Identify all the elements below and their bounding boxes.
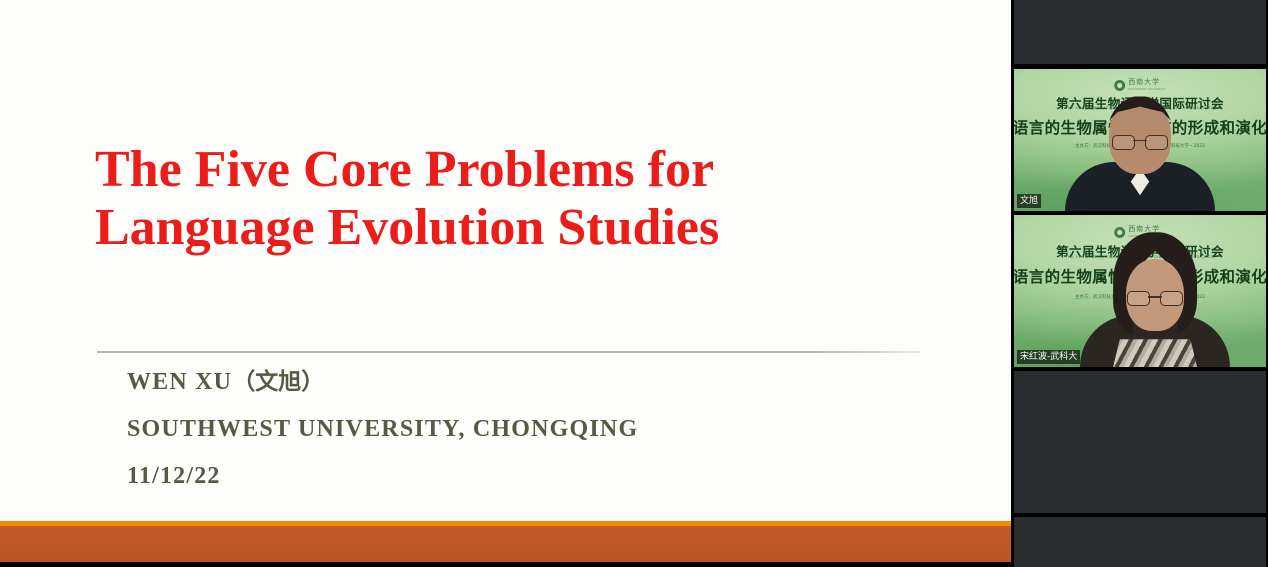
avatar-glasses-icon: [1127, 291, 1183, 305]
presenter-name-en: WEN XU: [127, 369, 232, 395]
logo-text: 西南大学: [1128, 225, 1160, 233]
video-feed: 西南大学 SOUTHWEST UNIVERSITY 第六届生物语言学国际研讨会 …: [1014, 215, 1266, 367]
presentation-slide[interactable]: The Five Core Problems for Language Evol…: [0, 0, 1011, 562]
meeting-window: The Five Core Problems for Language Evol…: [0, 0, 1268, 562]
university-logo-icon: 西南大学 SOUTHWEST UNIVERSITY: [1114, 79, 1166, 93]
logo-subtext: SOUTHWEST UNIVERSITY: [1128, 86, 1166, 93]
presenter-name-cjk: （文旭）: [232, 369, 324, 394]
slide-title: The Five Core Problems for Language Evol…: [95, 141, 955, 257]
video-tile-participant-1[interactable]: 西南大学 SOUTHWEST UNIVERSITY 第六届生物语言学国际研讨会 …: [1014, 69, 1266, 211]
participant-filmstrip[interactable]: 西南大学 SOUTHWEST UNIVERSITY 第六届生物语言学国际研讨会 …: [1011, 0, 1268, 562]
video-tile-placeholder-top[interactable]: [1014, 0, 1266, 64]
subtitle-line-date: 11/12/22: [127, 453, 947, 500]
avatar-glasses-icon: [1112, 135, 1168, 149]
participant-name-label: 宋红波-武科大: [1017, 350, 1080, 364]
slide-subtitle-block: WEN XU（文旭） SOUTHWEST UNIVERSITY, CHONGQI…: [127, 358, 947, 500]
seal-icon: [1114, 227, 1125, 238]
subtitle-line-presenter: WEN XU（文旭）: [127, 358, 947, 406]
title-divider-rule: [97, 351, 920, 353]
video-tile-placeholder-bottom[interactable]: [1014, 517, 1266, 567]
participant-name-label: 文旭: [1017, 194, 1041, 208]
participant-avatar: [1099, 248, 1211, 367]
video-tile-placeholder-middle[interactable]: [1014, 371, 1266, 513]
video-feed: 西南大学 SOUTHWEST UNIVERSITY 第六届生物语言学国际研讨会 …: [1014, 69, 1266, 211]
seal-icon: [1114, 80, 1125, 91]
logo-text: 西南大学: [1128, 78, 1160, 86]
subtitle-line-affiliation: SOUTHWEST UNIVERSITY, CHONGQING: [127, 406, 947, 453]
slide-footer-band: [0, 526, 1011, 562]
participant-avatar: [1084, 100, 1196, 211]
shared-screen-region[interactable]: The Five Core Problems for Language Evol…: [0, 0, 1011, 562]
video-tile-participant-2[interactable]: 西南大学 SOUTHWEST UNIVERSITY 第六届生物语言学国际研讨会 …: [1014, 215, 1266, 367]
